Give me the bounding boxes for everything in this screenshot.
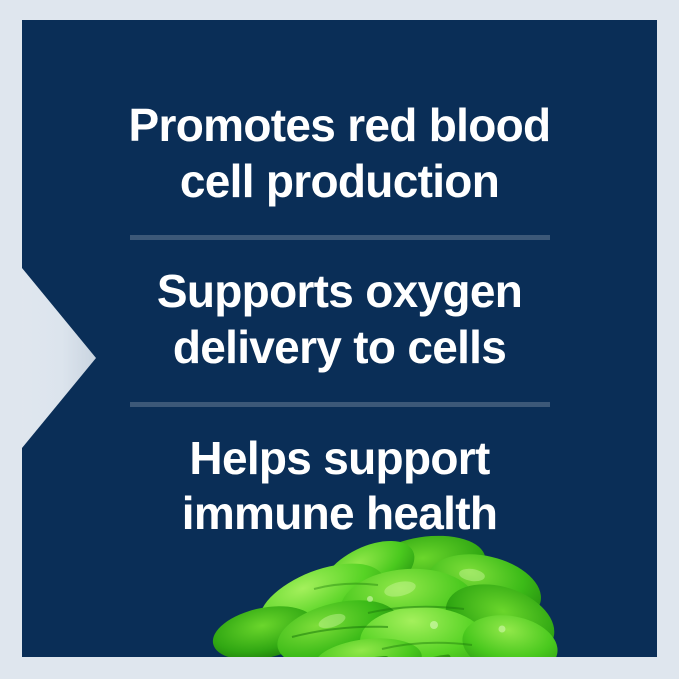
benefit-divider-1 (130, 235, 550, 240)
benefit-1-line-1: Promotes red blood (105, 98, 575, 154)
benefit-3-line-1: Helps support (105, 431, 575, 487)
benefit-divider-2 (130, 402, 550, 407)
benefit-item-3: Helps support immune health (105, 431, 575, 542)
benefit-item-1: Promotes red blood cell production (105, 98, 575, 209)
benefit-2-line-1: Supports oxygen (105, 264, 575, 320)
benefit-3-line-2: immune health (105, 486, 575, 542)
product-benefits-graphic: Promotes red blood cell production Suppo… (0, 0, 679, 679)
benefits-list: Promotes red blood cell production Suppo… (22, 20, 657, 580)
benefit-1-line-2: cell production (105, 154, 575, 210)
benefits-panel: Promotes red blood cell production Suppo… (22, 20, 657, 657)
benefit-item-2: Supports oxygen delivery to cells (105, 264, 575, 375)
benefit-2-line-2: delivery to cells (105, 320, 575, 376)
